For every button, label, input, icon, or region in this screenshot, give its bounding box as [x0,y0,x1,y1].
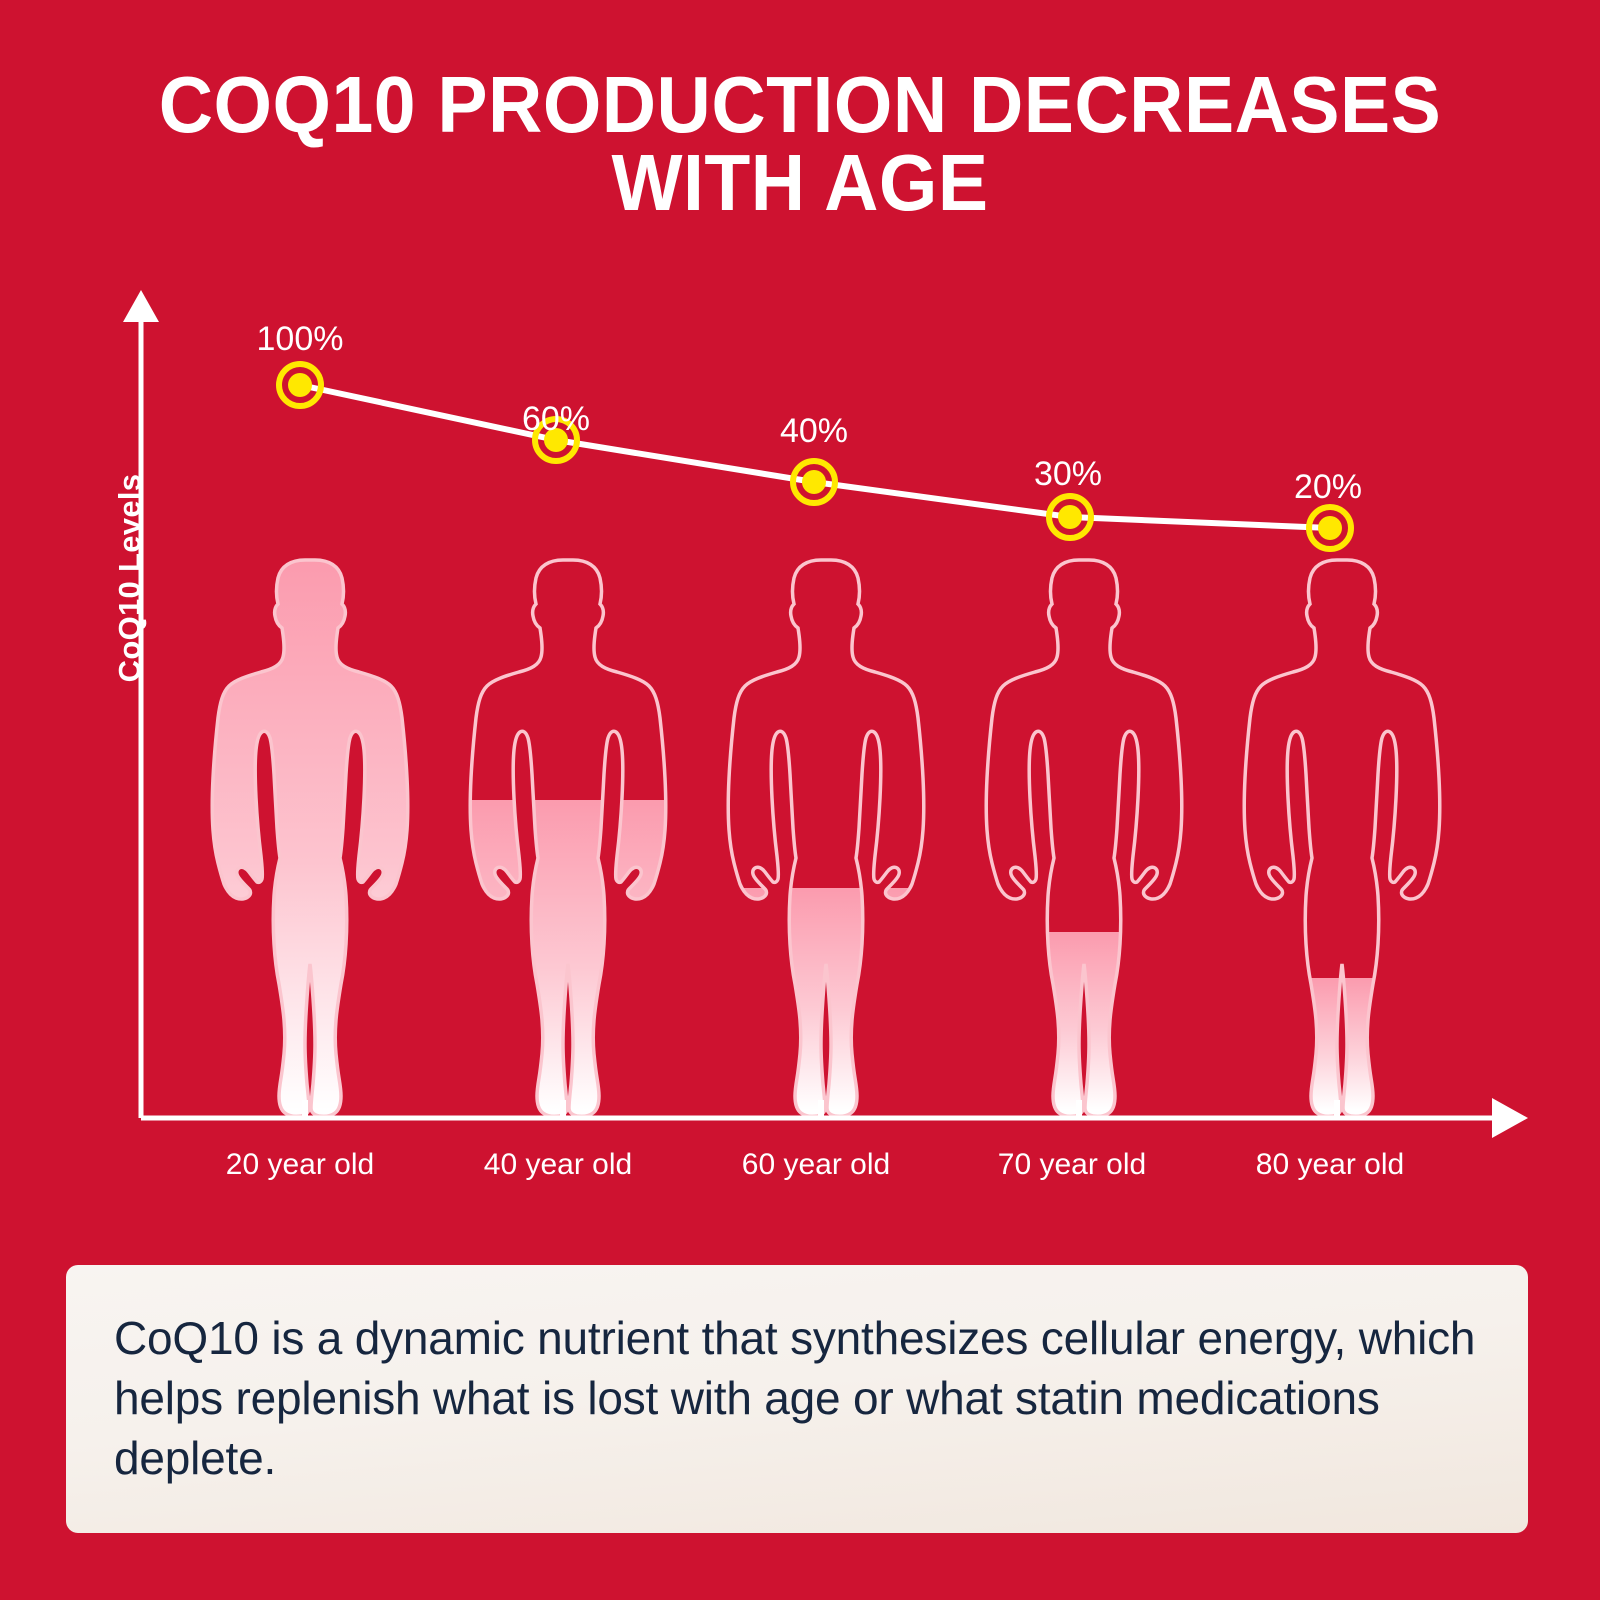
point-label-30: 30% [1034,455,1102,494]
point-label-100: 100% [257,320,344,359]
point-label-40: 40% [780,412,848,451]
data-point-marker-100 [279,364,321,406]
point-label-20: 20% [1294,468,1362,507]
x-axis-label-40-year-old: 40 year old [484,1148,632,1182]
point-label-60: 60% [522,400,590,439]
x-axis-ticks [305,1100,1337,1118]
x-axis-label-20-year-old: 20 year old [226,1148,374,1182]
x-axis-label-70-year-old: 70 year old [998,1148,1146,1182]
figure-group-70-year-old [969,560,1189,1120]
y-axis-label: CoQ10 Levels [112,428,148,728]
caption-text: CoQ10 is a dynamic nutrient that synthes… [114,1309,1480,1488]
figure-group-20-year-old [195,560,415,1120]
figure-group-60-year-old [711,560,931,1120]
figure-group-40-year-old [453,560,673,1120]
x-axis-label-60-year-old: 60 year old [742,1148,890,1182]
figure-group-80-year-old [1227,560,1447,1120]
trend-line [300,385,1330,528]
x-axis-label-80-year-old: 80 year old [1256,1148,1404,1182]
caption-box: CoQ10 is a dynamic nutrient that synthes… [66,1265,1528,1533]
